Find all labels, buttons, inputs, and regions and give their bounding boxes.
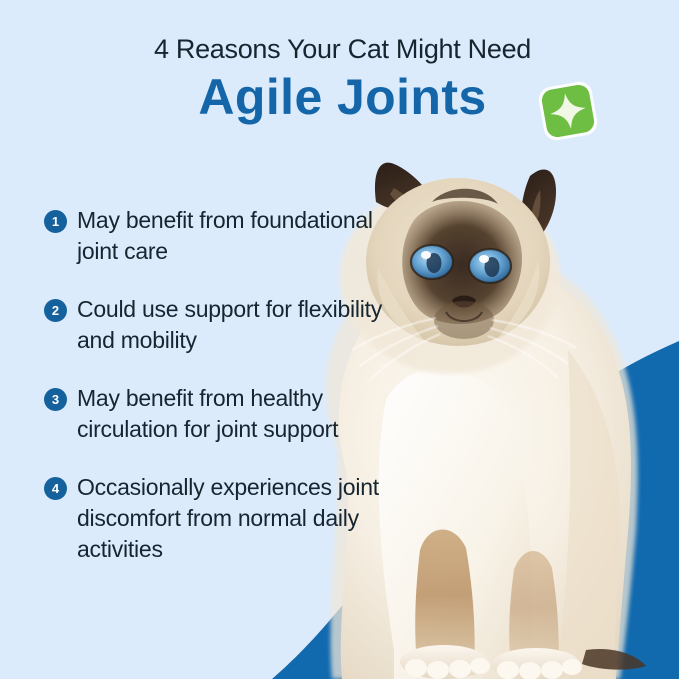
reason-number-badge: 4	[44, 477, 67, 500]
infographic-canvas: 4 Reasons Your Cat Might Need Agile Join…	[0, 0, 679, 679]
reason-number-badge: 1	[44, 210, 67, 233]
eyebrow-text: 4 Reasons Your Cat Might Need	[0, 32, 679, 66]
reason-text: May benefit from foundational joint care	[77, 205, 387, 267]
list-item: 2 Could use support for flexibility and …	[44, 294, 394, 356]
list-item: 3 May benefit from healthy circulation f…	[44, 383, 394, 445]
reason-number-badge: 2	[44, 299, 67, 322]
list-item: 4 Occasionally experiences joint discomf…	[44, 472, 394, 565]
sparkle-star-icon	[533, 76, 603, 146]
reason-text: May benefit from healthy circulation for…	[77, 383, 387, 445]
reasons-list: 1 May benefit from foundational joint ca…	[44, 205, 394, 592]
list-item: 1 May benefit from foundational joint ca…	[44, 205, 394, 267]
reason-text: Occasionally experiences joint discomfor…	[77, 472, 387, 565]
reason-text: Could use support for flexibility and mo…	[77, 294, 387, 356]
reason-number-badge: 3	[44, 388, 67, 411]
